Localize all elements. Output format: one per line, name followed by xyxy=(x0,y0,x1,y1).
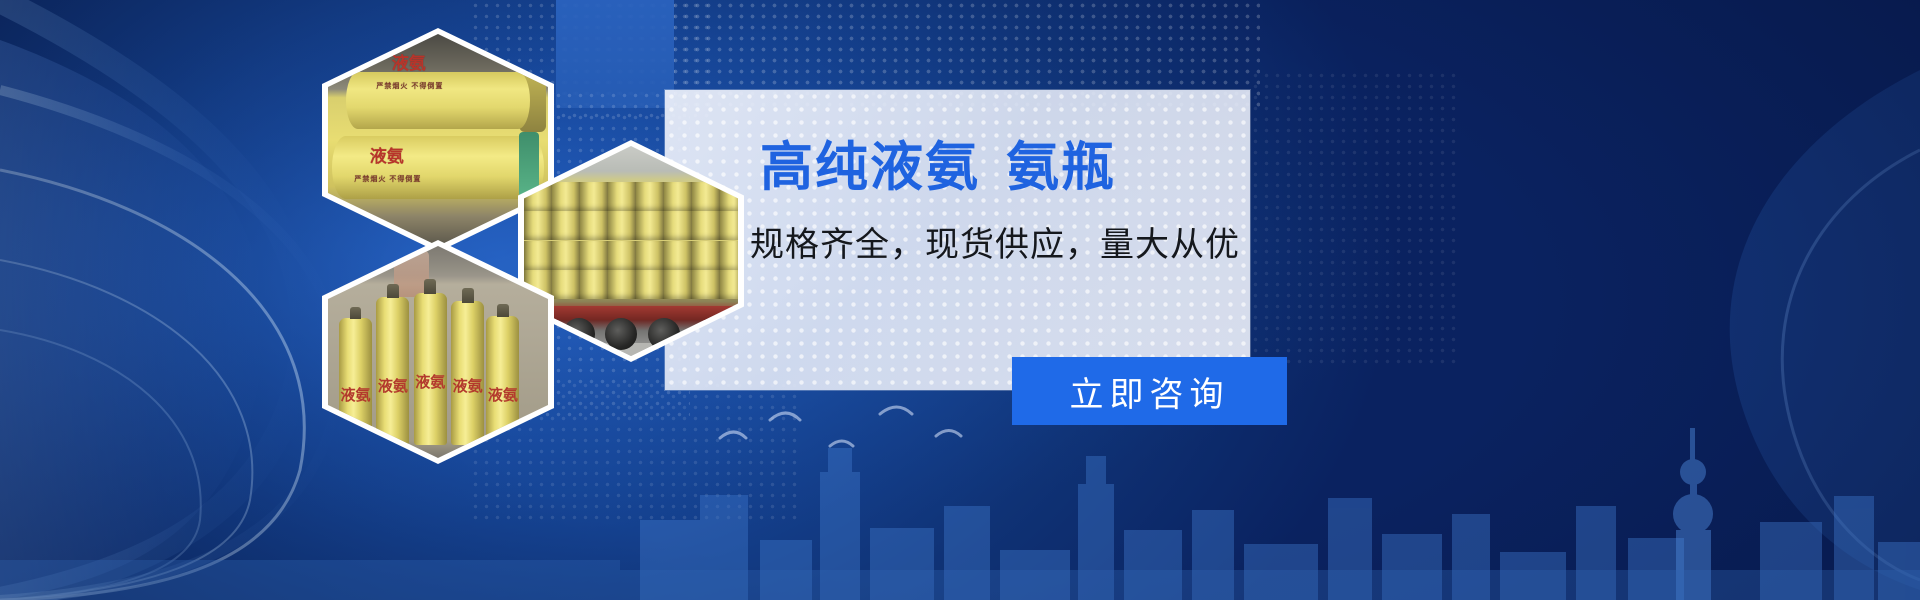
photo1-label-small-2: 严禁烟火 不得倒置 xyxy=(354,174,421,184)
headline-part-2: 氨瓶 xyxy=(1006,138,1116,197)
photo-liquid-ammonia-tanks: 液氨 严禁烟火 不得倒置 液氨 严禁烟火 不得倒置 xyxy=(328,34,548,246)
promo-banner: 液氨 严禁烟火 不得倒置 液氨 严禁烟火 不得倒置 xyxy=(0,0,1920,600)
photo1-label-large: 液氨 xyxy=(392,49,426,74)
banner-text-block: 高纯液氨氨瓶 规格齐全，现货供应，量大从优 xyxy=(700,140,1260,265)
banner-subtitle: 规格齐全，现货供应，量大从优 xyxy=(700,226,1260,265)
banner-headline: 高纯液氨氨瓶 xyxy=(700,140,1260,196)
photo3-label-1: 液氨 xyxy=(339,388,372,403)
photo3-label-3: 液氨 xyxy=(414,375,447,390)
dot-matrix-right xyxy=(1250,70,1460,370)
blue-accent-block xyxy=(556,0,674,108)
oriental-pearl-tower xyxy=(1673,428,1713,600)
photo1-label-small: 严禁烟火 不得倒置 xyxy=(376,81,443,91)
photo1-label-large-2: 液氨 xyxy=(370,142,404,167)
consult-now-button-label: 立即咨询 xyxy=(1070,367,1230,416)
city-skyline-silhouette xyxy=(0,410,1920,600)
photo-upright-ammonia-cylinders: 液氨 液氨 液氨 液氨 液氨 xyxy=(328,246,548,458)
photo3-label-4: 液氨 xyxy=(451,379,484,394)
photo3-label-5: 液氨 xyxy=(486,388,519,403)
consult-now-button[interactable]: 立即咨询 xyxy=(1012,357,1287,425)
flying-birds-decoration xyxy=(700,380,1020,470)
headline-part-1: 高纯液氨 xyxy=(760,138,980,197)
photo3-label-2: 液氨 xyxy=(376,379,409,394)
